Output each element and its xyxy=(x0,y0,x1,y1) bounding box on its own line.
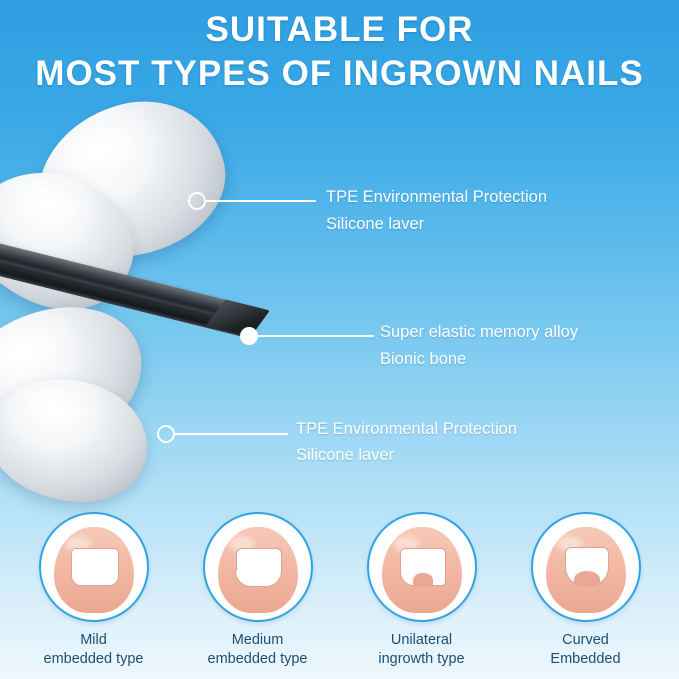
callout-top-silicone-line-1: TPE Environmental Protection xyxy=(326,184,547,211)
product-illustration xyxy=(0,95,310,495)
callout-dot-icon xyxy=(188,192,206,210)
callout-dot-icon xyxy=(157,425,175,443)
title-line-2: MOST TYPES OF INGROWN NAILS xyxy=(0,52,679,96)
type-item-unilateral: Unilateral ingrowth type xyxy=(352,512,492,669)
title-line-1: SUITABLE FOR xyxy=(0,8,679,52)
callout-leader-line xyxy=(258,335,374,337)
pad-highlight xyxy=(63,125,139,173)
type-label-line-1: Curved xyxy=(550,631,620,650)
type-label-line-1: Mild xyxy=(44,631,144,650)
nail-shape xyxy=(236,548,282,586)
callout-dot-filled-icon xyxy=(240,327,258,345)
type-label-line-1: Medium xyxy=(208,631,308,650)
product-infographic: SUITABLE FOR MOST TYPES OF INGROWN NAILS… xyxy=(0,0,679,679)
toe-nail-curved-icon xyxy=(531,512,641,622)
ingrown-nail-types: Mild embedded type Medium embedded type xyxy=(0,512,679,669)
callout-alloy-line-2: Bionic bone xyxy=(380,346,466,373)
type-label-line-2: Embedded xyxy=(550,650,620,669)
type-label-line-2: embedded type xyxy=(208,650,308,669)
nail-shape xyxy=(400,548,446,586)
type-label-medium: Medium embedded type xyxy=(208,631,308,669)
type-item-medium: Medium embedded type xyxy=(188,512,328,669)
type-item-mild: Mild embedded type xyxy=(24,512,164,669)
nail-shape xyxy=(565,547,609,587)
callout-alloy-line-1: Super elastic memory alloy xyxy=(380,319,578,346)
callout-bottom-silicone-line-2: Silicone laver xyxy=(296,442,394,469)
toe-nail-unilateral-icon xyxy=(367,512,477,622)
type-item-curved: Curved Embedded xyxy=(516,512,656,669)
type-label-line-1: Unilateral xyxy=(378,631,464,650)
toe-nail-medium-icon xyxy=(203,512,313,622)
type-label-line-2: ingrowth type xyxy=(378,650,464,669)
type-label-unilateral: Unilateral ingrowth type xyxy=(378,631,464,669)
type-label-curved: Curved Embedded xyxy=(550,631,620,669)
type-label-mild: Mild embedded type xyxy=(44,631,144,669)
toe-nail-mild-icon xyxy=(39,512,149,622)
nail-shape xyxy=(71,548,119,586)
pad-highlight xyxy=(0,328,61,375)
type-label-line-2: embedded type xyxy=(44,650,144,669)
pad-highlight xyxy=(22,390,83,424)
callout-leader-line xyxy=(206,200,316,202)
callout-bottom-silicone-line-1: TPE Environmental Protection xyxy=(296,416,517,443)
page-title: SUITABLE FOR MOST TYPES OF INGROWN NAILS xyxy=(0,8,679,96)
callout-leader-line xyxy=(175,433,288,435)
callout-top-silicone-line-2: Silicone laver xyxy=(326,211,424,238)
pad-highlight xyxy=(16,180,81,227)
